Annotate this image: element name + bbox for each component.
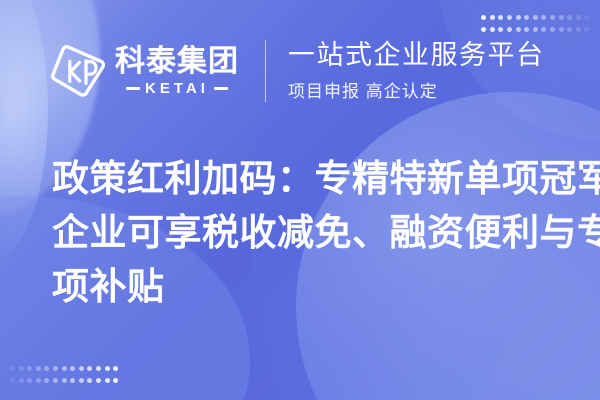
background-blob-left-sliver: [0, 0, 48, 260]
dot: [96, 366, 101, 371]
dot: [550, 27, 555, 32]
brand-name-en: KETAI: [145, 81, 209, 96]
dot: [70, 378, 75, 383]
dot: [79, 378, 84, 383]
dot: [113, 378, 118, 383]
dot: [507, 15, 512, 20]
dot: [498, 27, 503, 32]
dot: [79, 366, 84, 371]
headline: 政策红利加码：专精特新单项冠军 企业可享税收减免、融资便利与专 项补贴: [52, 152, 562, 314]
dot: [516, 15, 521, 20]
header-divider: [265, 40, 266, 102]
brand-name-cn: 科泰集团: [115, 47, 239, 77]
promo-banner: 科泰集团 KETAI 一站式企业服务平台 项目申报 高企认定 政策红利加码：专精…: [0, 0, 600, 400]
dot: [27, 366, 32, 371]
dot: [507, 27, 512, 32]
dot: [27, 378, 32, 383]
dot: [19, 366, 24, 371]
banner-header: 科泰集团 KETAI 一站式企业服务平台 项目申报 高企认定: [48, 36, 545, 106]
dot: [541, 15, 546, 20]
dot: [576, 27, 581, 32]
dot: [113, 366, 118, 371]
brand-wordmark: 科泰集团 KETAI: [115, 47, 239, 96]
dot: [550, 15, 555, 20]
dot: [96, 378, 101, 383]
dot: [62, 378, 67, 383]
dot: [87, 378, 92, 383]
dot: [44, 378, 49, 383]
dot: [10, 366, 15, 371]
dot: [516, 27, 521, 32]
dot: [567, 27, 572, 32]
dot: [53, 378, 58, 383]
dot: [36, 366, 41, 371]
headline-line-2: 企业可享税收减免、融资便利与专: [52, 206, 562, 260]
dot: [524, 15, 529, 20]
dot: [10, 378, 15, 383]
dot: [533, 15, 538, 20]
dot: [53, 366, 58, 371]
tagline-block: 一站式企业服务平台 项目申报 高企认定: [288, 40, 545, 102]
dot-grid-top-right: [481, 11, 593, 35]
dot: [36, 378, 41, 383]
dot: [481, 27, 486, 32]
brand-logo[interactable]: 科泰集团 KETAI: [48, 41, 239, 101]
dot: [559, 27, 564, 32]
headline-line-1: 政策红利加码：专精特新单项冠军: [52, 152, 562, 206]
wordmark-rule-right: [214, 87, 228, 90]
dot: [87, 366, 92, 371]
dot: [567, 15, 572, 20]
dot: [105, 378, 110, 383]
dot: [105, 366, 110, 371]
dot: [576, 15, 581, 20]
dot: [498, 15, 503, 20]
dot: [559, 15, 564, 20]
ketai-kp-diamond-icon: [48, 41, 108, 101]
dot: [584, 15, 589, 20]
dot: [44, 366, 49, 371]
dot: [490, 15, 495, 20]
tagline-secondary: 项目申报 高企认定: [288, 77, 545, 102]
dot: [524, 27, 529, 32]
dot: [533, 27, 538, 32]
dot: [541, 27, 546, 32]
dot: [62, 366, 67, 371]
dot: [19, 378, 24, 383]
brand-name-en-row: KETAI: [126, 81, 228, 96]
dot: [584, 27, 589, 32]
dot: [490, 27, 495, 32]
tagline-primary: 一站式企业服务平台: [288, 40, 545, 70]
dot-grid-bottom-left: [10, 362, 122, 386]
dot: [70, 366, 75, 371]
headline-line-3: 项补贴: [52, 260, 562, 314]
dot: [481, 15, 486, 20]
wordmark-rule-left: [126, 87, 140, 90]
